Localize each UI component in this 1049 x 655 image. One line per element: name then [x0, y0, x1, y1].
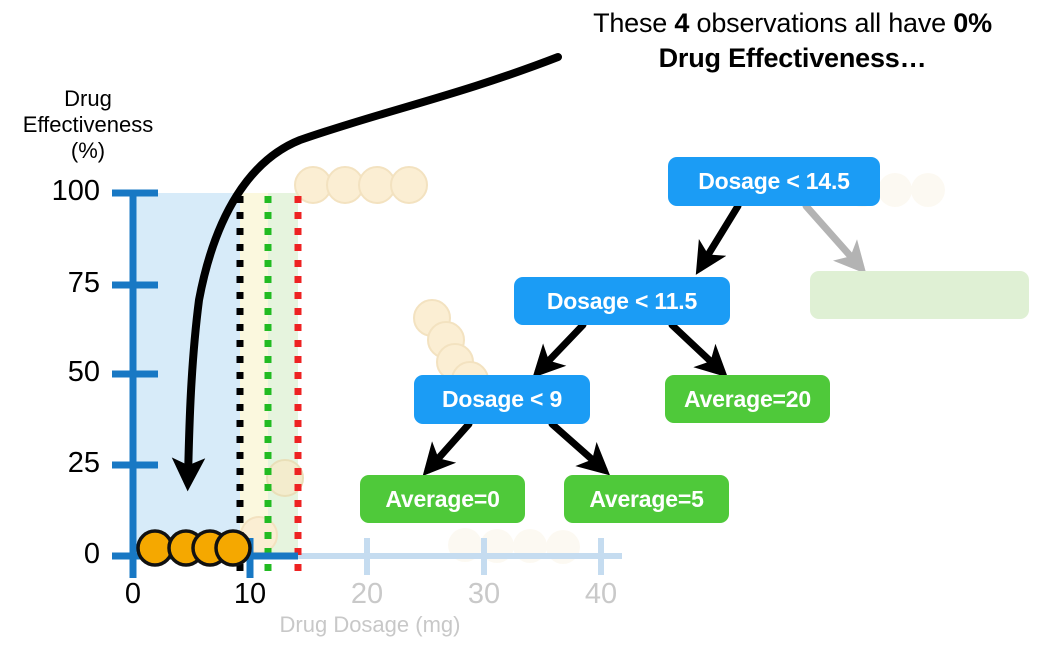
edge-root-right: [806, 206, 861, 268]
edge-n2-right: [672, 325, 722, 372]
x-tick-label-0: 0: [103, 580, 163, 609]
highlighted-observations: [138, 531, 250, 565]
tree-leaf-average-0[interactable]: Average=0: [360, 475, 525, 523]
x-tick-label-20: 20: [337, 580, 397, 609]
tree-node-dosage-11-5[interactable]: Dosage < 11.5: [514, 277, 730, 325]
shaded-band-yellow: [240, 193, 268, 556]
edge-n4-left: [428, 424, 469, 470]
tree-node-ghost-leaf[interactable]: [810, 271, 1029, 319]
tree-edges: [428, 206, 861, 470]
y-tick-label-50: 50: [4, 358, 100, 387]
annotation-line2: Drug Effectiveness…: [659, 43, 927, 73]
annotation-callout: These 4 observations all have 0% Drug Ef…: [540, 6, 1045, 75]
tree-leaf-average-20[interactable]: Average=20: [665, 375, 830, 423]
x-tick-label-10: 10: [220, 580, 280, 609]
y-tick-label-0: 0: [4, 540, 100, 569]
edge-n4-right: [552, 424, 604, 470]
x-tick-label-30: 30: [454, 580, 514, 609]
x-tick-label-40: 40: [571, 580, 631, 609]
tree-leaf-average-5[interactable]: Average=5: [564, 475, 729, 523]
shaded-band-green: [268, 193, 298, 556]
figure-canvas: These 4 observations all have 0% Drug Ef…: [0, 0, 1049, 655]
y-axis-title: Drug Effectiveness (%): [8, 86, 168, 164]
tree-node-dosage-9[interactable]: Dosage < 9: [414, 375, 590, 424]
tree-node-root[interactable]: Dosage < 14.5: [668, 157, 880, 206]
edge-n2-left: [538, 325, 583, 372]
y-tick-label-100: 100: [4, 177, 100, 206]
edge-root-left: [700, 206, 738, 268]
y-tick-label-75: 75: [4, 269, 100, 298]
x-axis-title: Drug Dosage (mg): [190, 612, 550, 638]
annotation-line1: These 4 observations all have 0%: [593, 8, 992, 38]
y-tick-label-25: 25: [4, 449, 100, 478]
